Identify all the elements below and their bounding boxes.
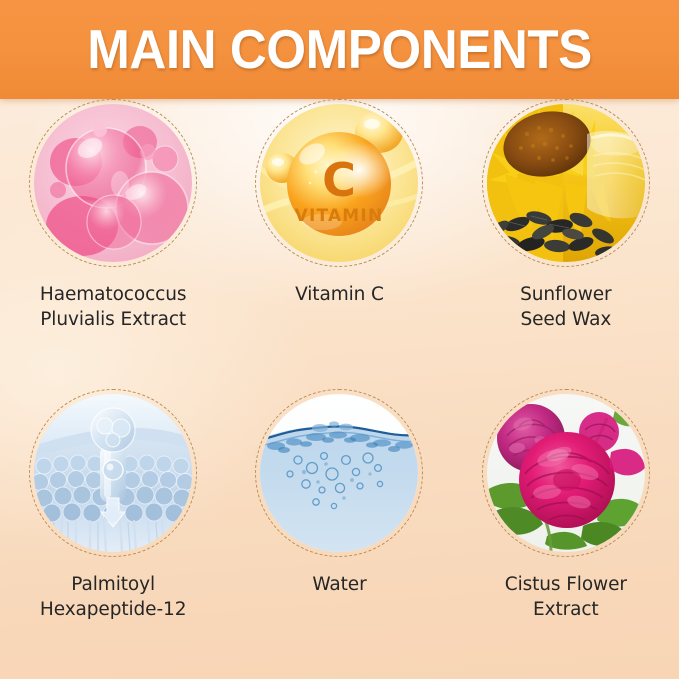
vitamin-c-word: VITAMIN [295,206,384,226]
component-label-line1: Sunflower [520,284,611,305]
component-label-line1: Water [312,574,366,595]
component-label: Sunflower Seed Wax [520,282,611,332]
component-label: Water [312,572,366,597]
component-label-line2: Pluvialis Extract [40,307,186,332]
page-title: MAIN COMPONENTS [24,19,655,79]
vitamin-c-drop-icon: C VITAMIN [260,104,418,262]
component-item-water[interactable]: Water [226,389,452,679]
component-item-sunflower[interactable]: Sunflower Seed Wax [453,99,679,389]
component-label-line2: Seed Wax [520,307,611,332]
component-label: Haematococcus Pluvialis Extract [40,282,186,332]
cistus-rose-flower-icon [487,394,645,552]
component-label-line1: Haematococcus [40,284,186,305]
component-circle: C VITAMIN [255,99,423,267]
component-circle [29,389,197,557]
component-item-vitamin-c[interactable]: C VITAMIN Vitamin C [226,99,452,389]
component-item-cistus[interactable]: Cistus Flower Extract [453,389,679,679]
skin-peptide-structure-icon [34,394,192,552]
component-label-line1: Vitamin C [295,284,384,305]
component-label-line1: Cistus Flower [505,574,627,595]
infographic-page: MAIN COMPONENTS [0,0,679,679]
component-circle [29,99,197,267]
component-circle [482,99,650,267]
component-circle [482,389,650,557]
component-item-palmitoyl[interactable]: Palmitoyl Hexapeptide-12 [0,389,226,679]
component-label: Cistus Flower Extract [505,572,627,622]
vitamin-c-letter: C [323,153,357,207]
sunflower-seeds-oil-icon [487,104,645,262]
component-label-line2: Extract [505,597,627,622]
component-label-line2: Hexapeptide-12 [40,597,186,622]
water-wave-icon [260,394,418,552]
components-grid: Haematococcus Pluvialis Extract [0,99,679,679]
component-label: Vitamin C [295,282,384,307]
component-label: Palmitoyl Hexapeptide-12 [40,572,186,622]
component-item-haematococcus[interactable]: Haematococcus Pluvialis Extract [0,99,226,389]
pink-bubbles-icon [34,104,192,262]
header-banner: MAIN COMPONENTS [0,0,679,99]
component-label-line1: Palmitoyl [71,574,155,595]
component-circle [255,389,423,557]
